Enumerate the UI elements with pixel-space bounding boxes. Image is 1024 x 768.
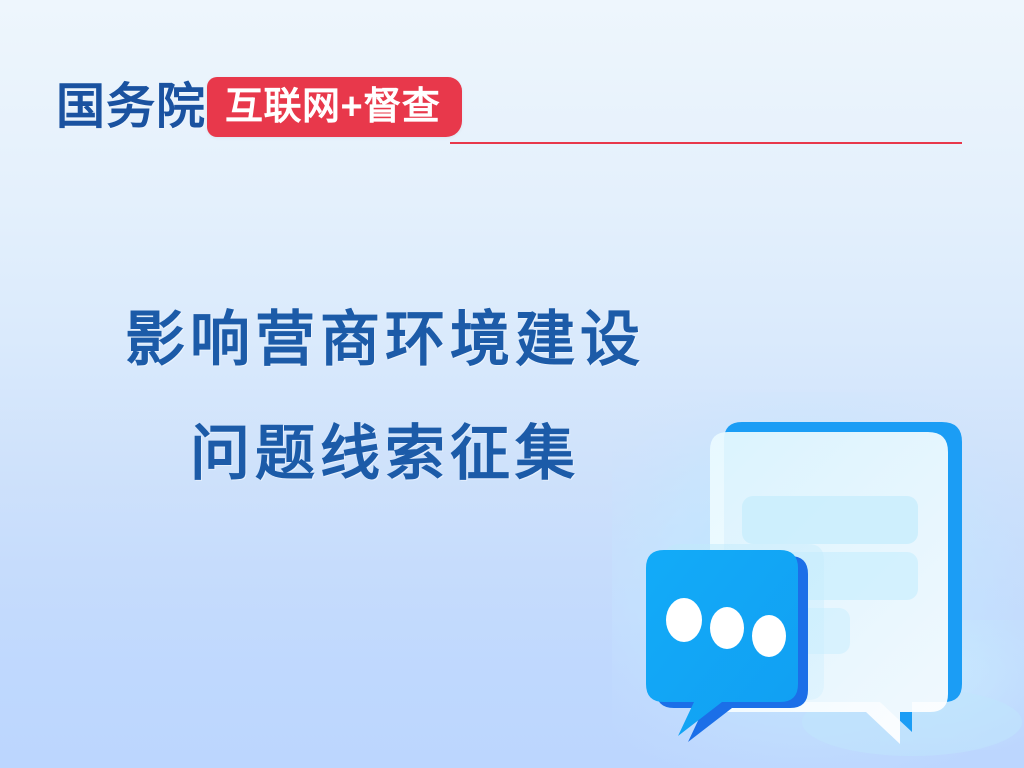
back-bubble-text-bar-1 [742,496,918,544]
chat-dot-3 [752,615,786,657]
speech-bubbles-illustration [612,392,1024,768]
page-title-line-1: 影响营商环境建设 [0,302,770,378]
chat-dot-2 [710,607,744,649]
chat-dot-1 [666,598,702,642]
badge-label: 互联网+督查 [225,85,440,129]
poster-canvas: 国务院 互联网+督查 影响营商环境建设 问题线索征集 [0,0,1024,768]
internet-plus-supervision-badge: 互联网+督查 [207,77,462,137]
gov-council-label: 国务院 [56,76,206,138]
header-divider-rule [450,142,962,144]
header: 国务院 互联网+督查 [0,76,1024,142]
